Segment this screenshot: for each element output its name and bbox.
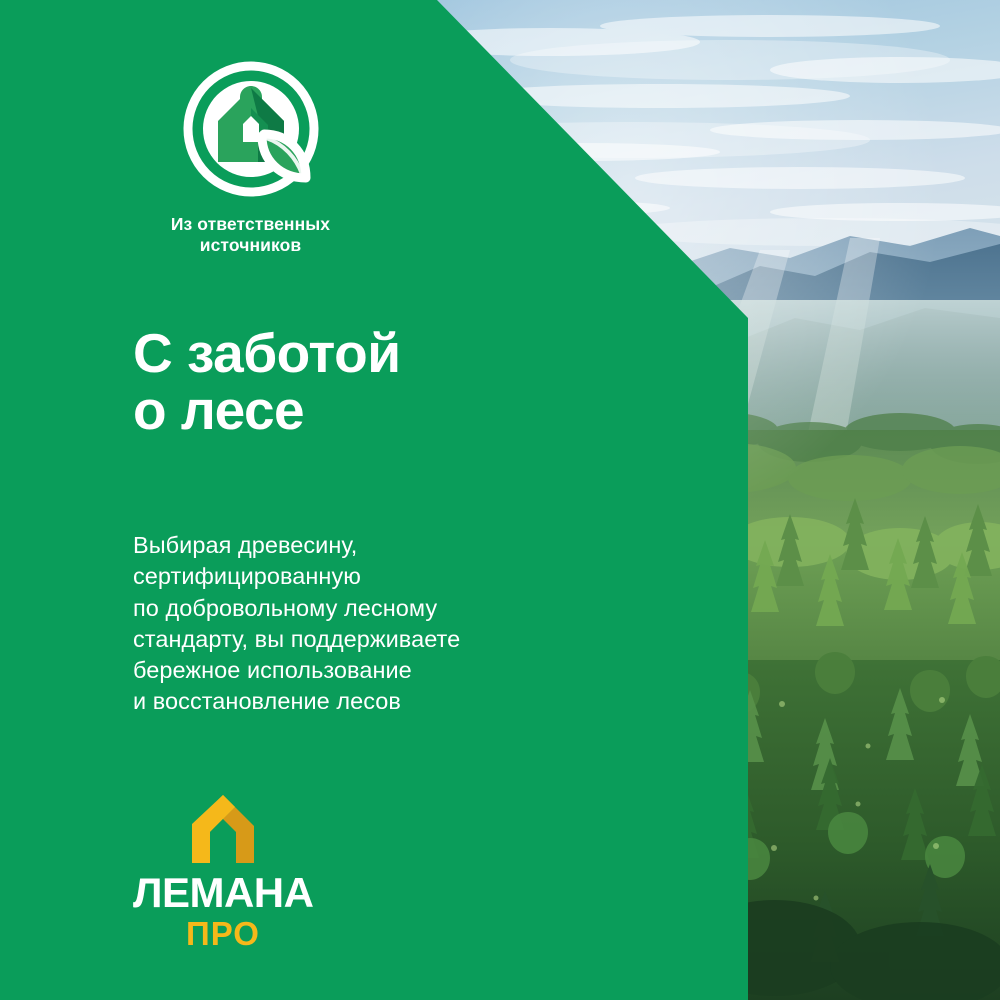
badge-caption: Из ответственных источников: [133, 214, 368, 255]
body-line-2: сертифицированную: [133, 561, 460, 592]
responsible-sources-seal-icon: [180, 58, 322, 200]
poster-content: Из ответственных источников С заботой о …: [0, 0, 1000, 1000]
body-line-5: бережное использование: [133, 655, 460, 686]
badge-caption-line-2: источников: [133, 235, 368, 256]
headline-line-1: С заботой: [133, 325, 401, 382]
brand-name: ЛЕМАНА: [133, 872, 313, 914]
poster-root: Из ответственных источников С заботой о …: [0, 0, 1000, 1000]
brand-logo: ЛЕМАНА ПРО: [133, 793, 313, 950]
body-line-6: и восстановление лесов: [133, 686, 460, 717]
headline-line-2: о лесе: [133, 382, 401, 439]
responsible-sources-badge: Из ответственных источников: [133, 58, 368, 255]
brand-suffix: ПРО: [133, 917, 313, 950]
body-copy: Выбирая древесину, сертифицированную по …: [133, 530, 460, 718]
headline: С заботой о лесе: [133, 325, 401, 439]
body-line-1: Выбирая древесину,: [133, 530, 460, 561]
body-line-3: по добровольному лесному: [133, 593, 460, 624]
badge-caption-line-1: Из ответственных: [133, 214, 368, 235]
body-line-4: стандарту, вы поддерживаете: [133, 624, 460, 655]
house-icon: [186, 793, 260, 865]
